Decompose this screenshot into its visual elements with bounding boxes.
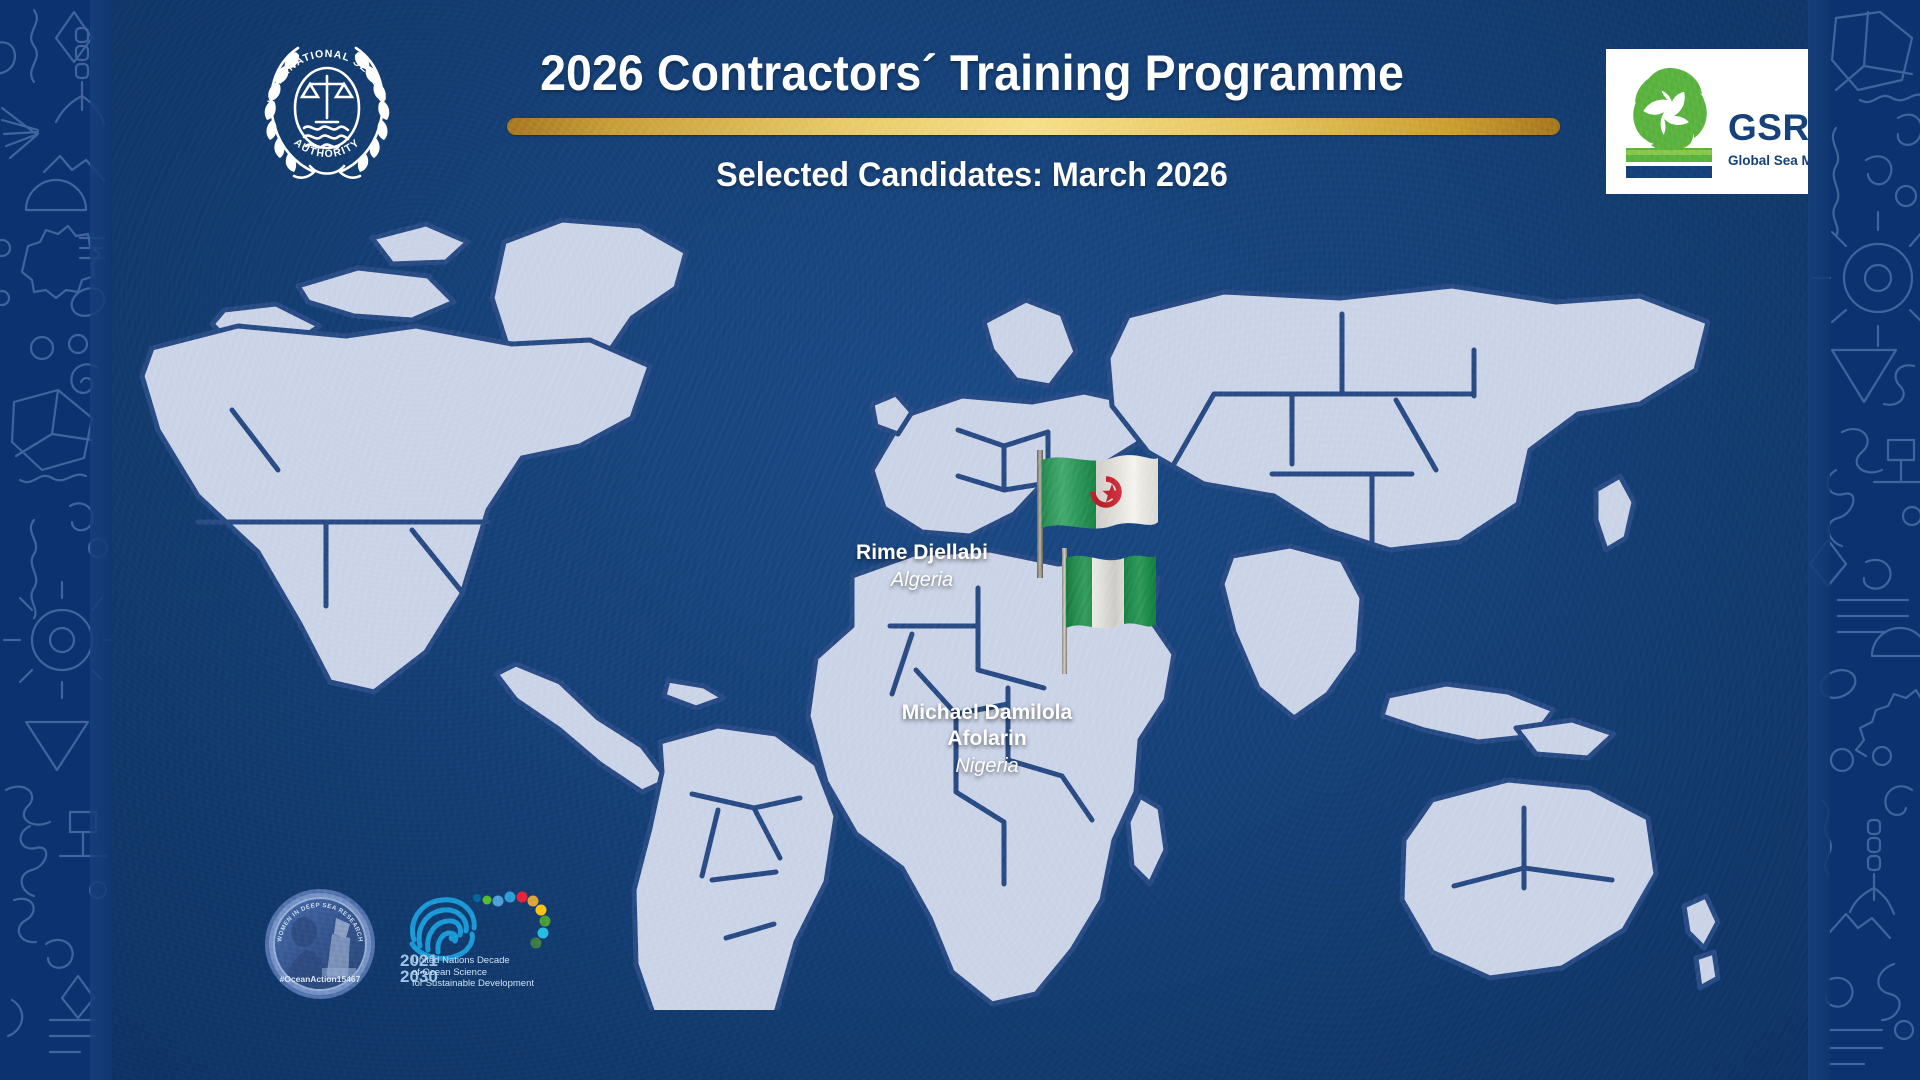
candidate-country: Nigeria (872, 752, 1102, 780)
gsr-tagline: Global Sea Mineral Resources (1728, 153, 1808, 168)
isa-emblem-icon: INTERNATIONAL SEABED AUTHORITY (252, 32, 402, 182)
page-title: 2026 Contractors´ Training Programme (451, 44, 1493, 102)
left-decorative-band (0, 0, 112, 1080)
ocean-action-badge: WOMEN IN DEEP SEA RESEARCH #OceanAction1… (260, 884, 380, 1004)
ocean-action-badge-icon: WOMEN IN DEEP SEA RESEARCH #OceanAction1… (260, 884, 380, 1004)
svg-text:#OceanAction15467: #OceanAction15467 (280, 974, 361, 984)
poster-stage: INTERNATIONAL SEABED AUTHORITY 2026 Cont… (112, 0, 1808, 1080)
un-decade-line2: of Ocean Science (412, 967, 587, 979)
page-subtitle: Selected Candidates: March 2026 (440, 156, 1504, 195)
isa-logo: INTERNATIONAL SEABED AUTHORITY (252, 32, 402, 182)
poster-root: INTERNATIONAL SEABED AUTHORITY 2026 Cont… (0, 0, 1920, 1080)
gsr-mark-icon (1624, 62, 1716, 180)
candidate-name-line1: Michael Damilola (872, 700, 1102, 726)
candidate-country: Algeria (812, 566, 1032, 594)
candidate-label-algeria: Rime Djellabi Algeria (812, 540, 1032, 594)
gold-divider (507, 118, 1560, 135)
un-decade-text: United Nations Decade of Ocean Science f… (412, 955, 587, 990)
band-edge-left (90, 0, 112, 1080)
un-decade-line3: for Sustainable Development (412, 978, 587, 990)
un-decade-line1: United Nations Decade (412, 955, 587, 967)
svg-text:AUTHORITY: AUTHORITY (292, 136, 363, 160)
nigeria-flag-icon (1050, 548, 1168, 674)
nigeria-flag (1050, 548, 1168, 674)
candidate-name-line2: Afolarin (872, 726, 1102, 752)
candidate-label-nigeria: Michael Damilola Afolarin Nigeria (872, 700, 1102, 780)
gsr-wordmark: GSR (1728, 107, 1808, 149)
right-decorative-band (1808, 0, 1920, 1080)
gsr-logo-card: GSR Global Sea Mineral Resources (1606, 49, 1808, 194)
band-edge-right (1808, 0, 1830, 1080)
candidate-name: Rime Djellabi (812, 540, 1032, 566)
